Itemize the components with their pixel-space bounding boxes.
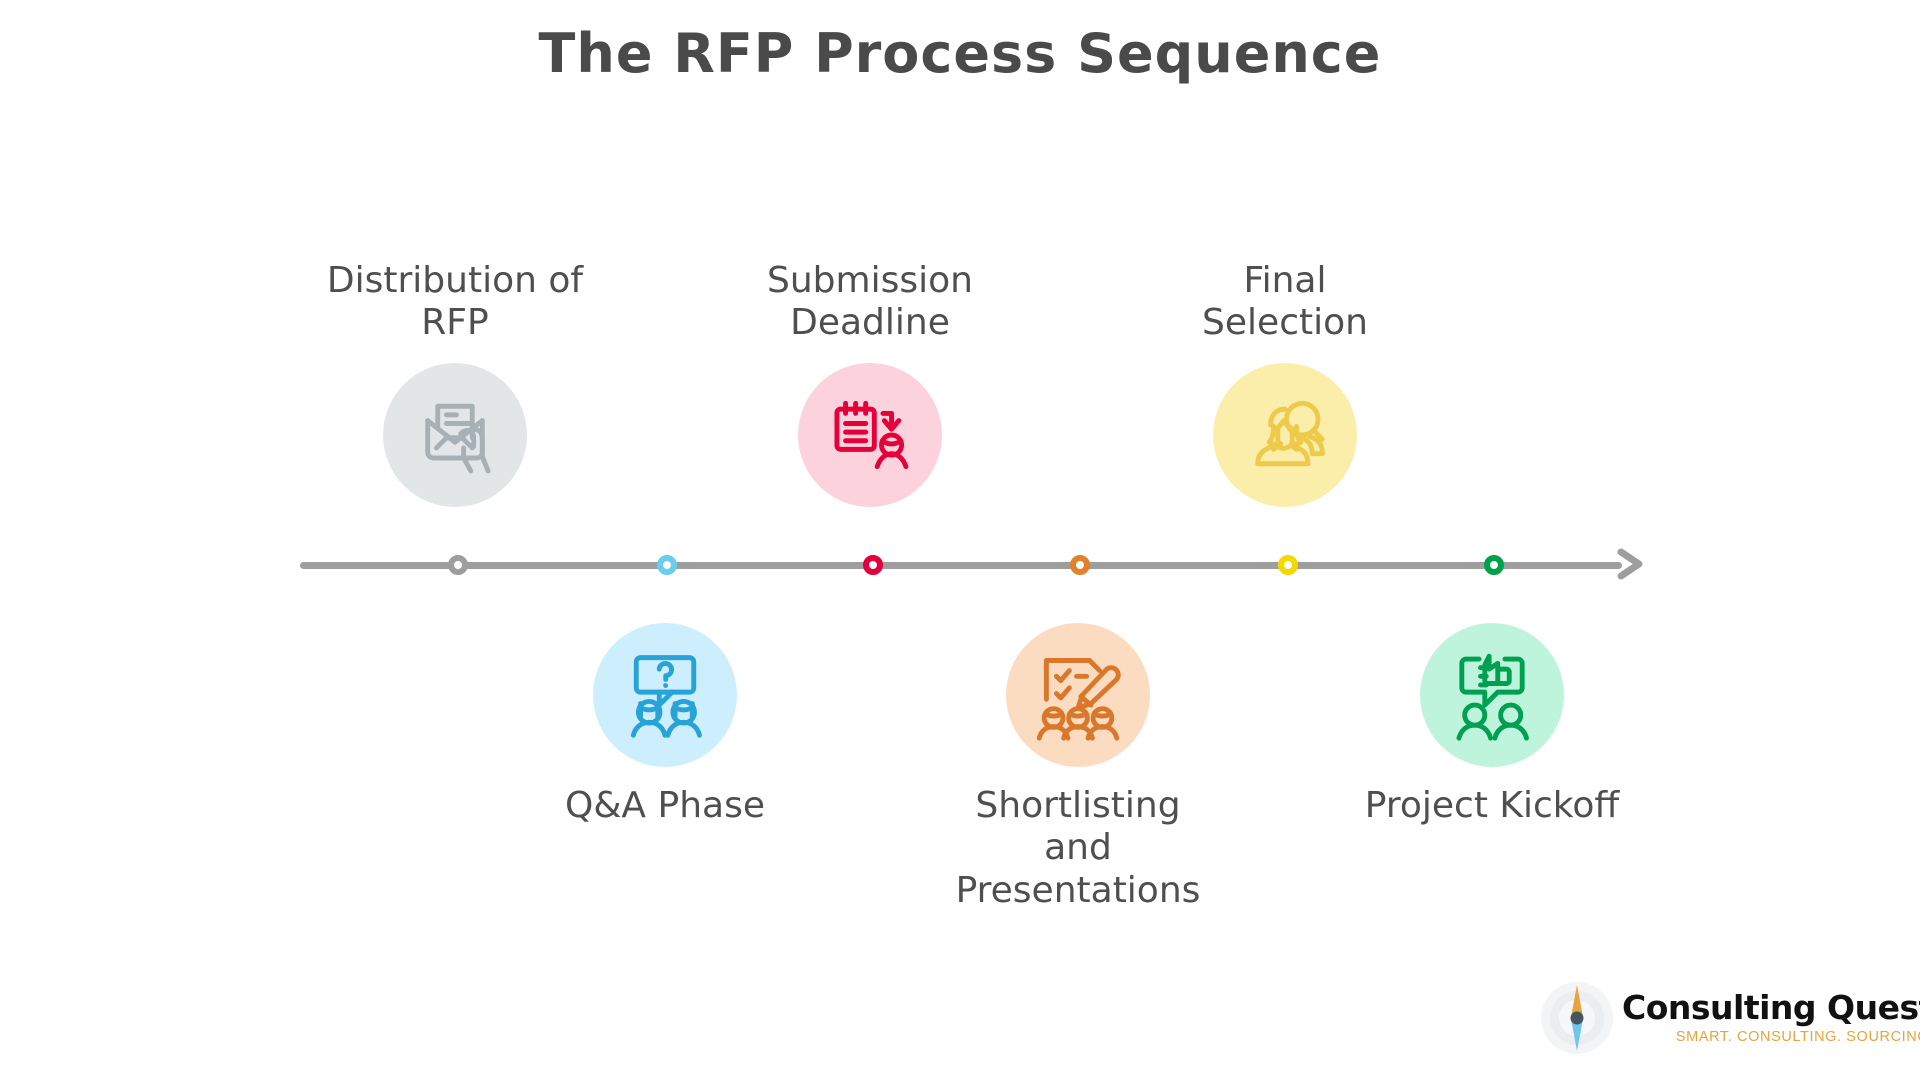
step-label-line: Q&A Phase [515, 785, 815, 827]
question-speech-bubble-people-icon [619, 649, 711, 741]
notepad-arrow-person-icon [824, 389, 916, 481]
arrow-right-icon [1613, 542, 1657, 586]
timeline-dot-4[interactable] [1070, 555, 1090, 575]
checklist-pencil-people-icon [1032, 649, 1124, 741]
step-label-final-selection: FinalSelection [1135, 260, 1435, 345]
people-magnifier-icon [1239, 389, 1331, 481]
timeline-step-final-selection[interactable]: FinalSelection [1135, 260, 1435, 507]
brand-name: Consulting Quest [1622, 991, 1920, 1026]
brand-logo: Consulting Quest SMART. CONSULTING. SOUR… [1540, 975, 1900, 1061]
step-label-distribution-of-rfp: Distribution ofRFP [305, 260, 605, 345]
timeline-dot-2[interactable] [657, 555, 677, 575]
timeline-dot-6[interactable] [1484, 555, 1504, 575]
timeline-axis [300, 559, 1655, 571]
step-label-line: Deadline [720, 302, 1020, 344]
step-label-qa-phase: Q&A Phase [515, 785, 815, 827]
timeline-step-qa-phase[interactable]: Q&A Phase [515, 623, 815, 827]
step-icon-bubble-project-kickoff[interactable] [1420, 623, 1564, 767]
step-icon-bubble-submission-deadline[interactable] [798, 363, 942, 507]
step-icon-bubble-qa-phase[interactable] [593, 623, 737, 767]
timeline-step-project-kickoff[interactable]: Project Kickoff [1342, 623, 1642, 827]
page-title: The RFP Process Sequence [0, 22, 1920, 85]
step-icon-bubble-shortlisting-and-presentations[interactable] [1006, 623, 1150, 767]
timeline-line [300, 562, 1622, 569]
slide-canvas: The RFP Process Sequence Distribution of… [0, 0, 1920, 1080]
hand-holding-envelope-icon [409, 389, 501, 481]
step-label-shortlisting-and-presentations: ShortlistingandPresentations [928, 785, 1228, 912]
step-label-line: Project Kickoff [1342, 785, 1642, 827]
step-label-line: Selection [1135, 302, 1435, 344]
timeline-dot-3[interactable] [863, 555, 883, 575]
step-label-line: RFP [305, 302, 605, 344]
step-label-project-kickoff: Project Kickoff [1342, 785, 1642, 827]
step-label-line: Presentations [928, 870, 1228, 912]
brand-tagline: SMART. CONSULTING. SOURCING. [1622, 1029, 1920, 1045]
thumbs-up-speech-bubble-people-icon [1446, 649, 1538, 741]
step-icon-bubble-distribution-of-rfp[interactable] [383, 363, 527, 507]
step-label-line: Distribution of [305, 260, 605, 302]
brand-text: Consulting Quest SMART. CONSULTING. SOUR… [1622, 991, 1920, 1045]
step-label-line: Submission [720, 260, 1020, 302]
step-label-line: Final [1135, 260, 1435, 302]
compass-needle-icon [1540, 981, 1614, 1055]
step-icon-bubble-final-selection[interactable] [1213, 363, 1357, 507]
timeline-step-distribution-of-rfp[interactable]: Distribution ofRFP [305, 260, 605, 507]
timeline-dot-1[interactable] [448, 555, 468, 575]
timeline-step-shortlisting-and-presentations[interactable]: ShortlistingandPresentations [928, 623, 1228, 912]
step-label-line: Shortlisting [928, 785, 1228, 827]
step-label-submission-deadline: SubmissionDeadline [720, 260, 1020, 345]
timeline-dot-5[interactable] [1278, 555, 1298, 575]
step-label-line: and [928, 827, 1228, 869]
timeline-step-submission-deadline[interactable]: SubmissionDeadline [720, 260, 1020, 507]
